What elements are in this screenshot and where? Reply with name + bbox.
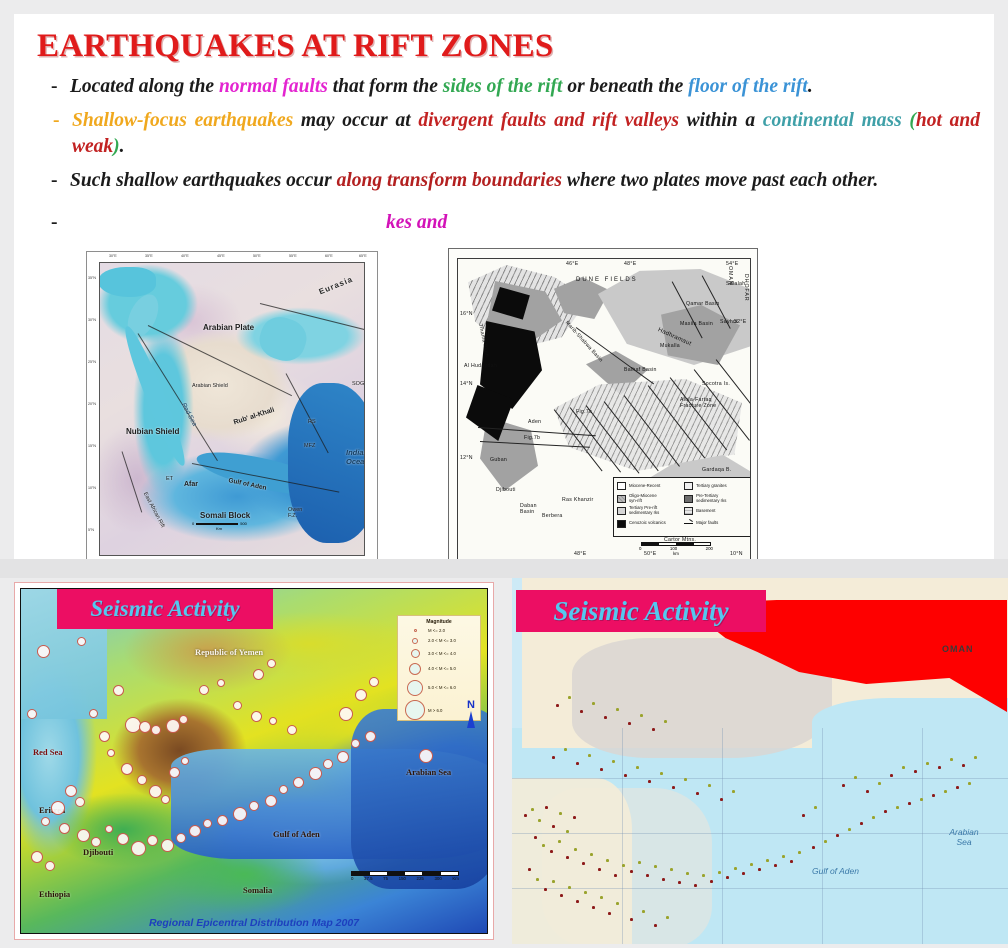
banner-text: Seismic Activity xyxy=(90,596,239,622)
map-a-lat-tick: 10°N xyxy=(88,486,96,490)
map-b-coord-tick: 16°N xyxy=(460,311,473,317)
bullet-text-3: Such shallow earthquakes occur along tra… xyxy=(70,170,878,191)
bullet-text-2: Shallow-focus earthquakes may occur at d… xyxy=(72,110,980,157)
scalebar-tick: 0 xyxy=(639,546,641,551)
map-a-label-arabian-shield: Arabian Shield xyxy=(192,383,228,389)
map-b-coord-tick: 48°E xyxy=(574,551,587,557)
map-label-republic-of-yemen: Republic of Yemen xyxy=(195,647,263,657)
map-label-ethiopia: Ethiopia xyxy=(39,889,70,899)
map-b-label-aden: Aden xyxy=(528,419,541,425)
map-b-label-oman: OMAN xyxy=(727,266,733,286)
slide-earthquakes-rift-zones: EARTHQUAKES AT RIFT ZONES - Located alon… xyxy=(14,14,994,559)
legend-swatch-tertiary-granites xyxy=(684,482,693,490)
scalebar-tick: 300 xyxy=(434,876,441,881)
bullet-marker-4: - xyxy=(51,210,58,236)
map-b-coord-tick: 48°E xyxy=(624,261,637,267)
map-a-lon-tick: 30°E xyxy=(109,254,117,258)
bullet-segment: Located along the xyxy=(70,76,219,97)
magnitude-label: M <= 2.0 xyxy=(428,628,445,633)
magnitude-symbol xyxy=(402,649,428,658)
banner-seismic-activity-left: Seismic Activity xyxy=(57,589,273,629)
magnitude-label: 5.0 < M <= 6.0 xyxy=(428,685,456,690)
map-a-lat-tick: 5°N xyxy=(88,528,94,532)
north-arrow-glyph xyxy=(467,711,475,728)
slide-page: EARTHQUAKES AT RIFT ZONES - Located alon… xyxy=(0,0,1008,948)
bullet-marker-2: - xyxy=(53,108,60,134)
map-a-label-arabian-plate: Arabian Plate xyxy=(203,323,254,332)
map-b-label-masila-basin: Masila Basin xyxy=(680,321,713,327)
panel-seismic-epicenters: Seismic Activity OMAN Arabian Sea Gulf o… xyxy=(512,578,1008,944)
map-label-djibouti: Djibouti xyxy=(83,847,113,857)
bullet-segment: normal faults xyxy=(219,76,328,97)
map-a-label-sog: SOG xyxy=(352,381,364,387)
map-a-lat-tick: 15°N xyxy=(88,444,96,448)
map-b-label-balhaf-basin: Balhaf Basin xyxy=(624,367,657,373)
legend-item: Cenozoic volcanics xyxy=(617,519,679,529)
bullet-segment: . xyxy=(120,136,125,157)
bullet-segment: or beneath the xyxy=(562,76,688,97)
legend-swatch-pre-tertiary-sed xyxy=(684,495,693,503)
magnitude-legend-row: M <= 2.0 xyxy=(402,626,476,635)
map-a-frame: Arabian Plate Nubian Shield Somali Block… xyxy=(99,262,365,556)
magnitude-label: 4.0 < M <= 5.0 xyxy=(428,666,456,671)
scalebar-tick: 75 xyxy=(383,876,388,881)
figure-yemen-geological-map: DUNE FIELDS Tihama Plain Hadhramaut Qama… xyxy=(448,248,758,559)
bullet-item-4: - kes and xyxy=(40,210,980,236)
political-basemap: Seismic Activity OMAN Arabian Sea Gulf o… xyxy=(512,578,1008,944)
map-b-coord-tick: 54°E xyxy=(726,261,739,267)
magnitude-symbol xyxy=(402,629,428,632)
map-a-label-somali-block: Somali Block xyxy=(200,511,250,520)
map-b-label-daban-basin: Daban Basin xyxy=(520,503,546,515)
magnitude-symbol xyxy=(402,680,428,696)
legend-label: Basement xyxy=(696,509,715,514)
map-b-legend: Miocene-Recent Oligo-Miocene syn-rift Te… xyxy=(613,477,751,537)
legend-label: Major faults xyxy=(696,521,718,526)
legend-swatch-miocene-recent xyxy=(617,482,626,490)
map-caption: Regional Epicentral Distribution Map 200… xyxy=(21,917,487,929)
bullet-segment: floor of the rift xyxy=(688,76,808,97)
map-label-red-sea: Red Sea xyxy=(33,747,63,757)
map-b-label-mukalla: Mukalla xyxy=(660,343,680,349)
scalebar-track xyxy=(351,871,459,876)
legend-swatch-basement xyxy=(684,507,693,515)
map-b-frame: DUNE FIELDS Tihama Plain Hadhramaut Qama… xyxy=(457,258,751,559)
map-scalebar: 0 37.5 75 150 225 300 Km xyxy=(351,871,459,882)
map-label-arabian-sea: Arabian Sea xyxy=(406,767,451,777)
legend-label: Oligo-Miocene syn-rift xyxy=(629,494,657,504)
map-a-label-eurasia: Eurasia xyxy=(318,275,355,297)
bullet-marker-3: - xyxy=(51,168,58,194)
magnitude-legend-row: M > 6.0 xyxy=(402,698,476,722)
magnitude-legend-row: 3.0 < M <= 4.0 xyxy=(402,646,476,660)
bullet-item-3: - Such shallow earthquakes occur along t… xyxy=(40,168,980,194)
bullet-text-4: kes and xyxy=(70,210,447,236)
legend-item: Basement xyxy=(684,506,750,516)
map-b-label-dune-fields: DUNE FIELDS xyxy=(576,277,638,283)
bullet-segment: kes and xyxy=(386,212,447,233)
figure-arabian-plate-tectonic-map: Arabian Plate Nubian Shield Somali Block… xyxy=(86,251,378,559)
map-a-lon-tick: 60°E xyxy=(325,254,333,258)
scalebar-tick: 37.5 xyxy=(364,876,373,881)
legend-label: Pre-Tertiary sedimentary rks xyxy=(696,494,726,504)
bullet-segment: Shallow-focus earthquakes xyxy=(72,110,293,131)
legend-item: Oligo-Miocene syn-rift xyxy=(617,494,679,504)
magnitude-label: 2.0 < M <= 3.0 xyxy=(428,638,456,643)
map-b-coord-tick: 46°E xyxy=(566,261,579,267)
scalebar-tick: 0 xyxy=(351,876,353,881)
legend-item: Major faults xyxy=(684,519,750,529)
legend-label: Miocene-Recent xyxy=(629,484,660,489)
magnitude-label: 3.0 < M <= 4.0 xyxy=(428,651,456,656)
magnitude-label: M > 6.0 xyxy=(428,708,442,713)
bullet-segment: where two plates move past each other. xyxy=(562,170,878,191)
map-a-lon-tick: 45°E xyxy=(217,254,225,258)
map-a-label-rub-al-khali: Rub' al-Khali xyxy=(233,407,276,428)
north-arrow: N xyxy=(467,701,475,728)
map-a-lon-tick: 40°E xyxy=(181,254,189,258)
bullet-marker-1: - xyxy=(51,74,58,100)
map-b-label-fig7b: Fig.7b xyxy=(524,435,540,441)
map-b-label-qamar-basin: Qamar Basin xyxy=(686,301,720,307)
bullet-segment: may occur at xyxy=(293,110,418,131)
map-b-label-dhofar: DHOFAR xyxy=(743,274,749,302)
bullet-segment: Such shallow earthquakes occur xyxy=(70,170,337,191)
bullet-segment: that form the xyxy=(328,76,443,97)
map-b-label-alula-fartaq: Alula-Fartaq Fracture Zone xyxy=(680,397,720,409)
magnitude-symbol xyxy=(402,638,428,644)
map-b-coord-tick: 10°N xyxy=(730,551,743,557)
map-b-coord-tick: 12°N xyxy=(460,455,473,461)
scalebar-unit: km xyxy=(641,551,711,556)
magnitude-legend-title: Magnitude xyxy=(402,619,476,625)
bullet-segment: ( xyxy=(902,110,916,131)
bullet-segment: within a xyxy=(679,110,763,131)
map-b-scalebar: 0 100 200 km xyxy=(641,542,713,556)
map-b-label-gardaqa: Gardaqa B. xyxy=(702,467,732,473)
map-label-arabian-sea: Arabian Sea xyxy=(942,828,986,848)
legend-item: Pre-Tertiary sedimentary rks xyxy=(684,494,750,504)
bullet-segment: . xyxy=(808,76,813,97)
panel-regional-epicentral-map: Seismic Activity Republic of Yemen Red S… xyxy=(14,582,494,940)
legend-label: Cenozoic volcanics xyxy=(629,521,666,526)
bullet-segment: divergent faults and rift valleys xyxy=(418,110,679,131)
bullet-segment: continental mass xyxy=(763,110,902,131)
map-a-lat-tick: 20°N xyxy=(88,402,96,406)
slide-divider xyxy=(0,559,1008,578)
map-a-lon-tick: 55°E xyxy=(289,254,297,258)
legend-swatch-major-faults xyxy=(684,520,693,528)
map-a-lon-tick: 35°E xyxy=(145,254,153,258)
legend-swatch-cenozoic-volcanics xyxy=(617,520,626,528)
map-b-label-djibouti: Djibouti xyxy=(496,487,516,493)
map-a-label-east-african-rift: East African Rift xyxy=(142,491,166,529)
north-label: N xyxy=(467,701,475,710)
legend-swatch-oligo-miocene xyxy=(617,495,626,503)
map-b-label-ras-khanzir: Ras Khanzir xyxy=(562,497,594,503)
map-label-gulf-of-aden: Gulf of Aden xyxy=(273,829,320,839)
map-a-label-et: ET xyxy=(166,476,173,482)
scalebar-tick: 225 xyxy=(417,876,424,881)
magnitude-legend-row: 2.0 < M <= 3.0 xyxy=(402,635,476,646)
map-a-lat-tick: 25°N xyxy=(88,360,96,364)
map-b-label-al-hudaydah: Al Hudaydah xyxy=(464,363,497,369)
map-label-gulf-of-aden: Gulf of Aden xyxy=(812,866,859,876)
legend-item: Tertiary granites xyxy=(684,481,750,491)
banner-seismic-activity-right: Seismic Activity xyxy=(516,590,766,632)
magnitude-legend-row: 4.0 < M <= 5.0 xyxy=(402,660,476,677)
scalebar-tick: 150 xyxy=(399,876,406,881)
bullet-item-1: - Located along the normal faults that f… xyxy=(40,74,980,100)
panel-left-map: Seismic Activity Republic of Yemen Red S… xyxy=(20,588,488,934)
scalebar-unit: Km xyxy=(452,876,459,881)
map-b-coord-tick: 14°N xyxy=(460,381,473,387)
map-label-oman: OMAN xyxy=(942,644,974,654)
map-a-lon-tick: 50°E xyxy=(253,254,261,258)
bullet-list: - Located along the normal faults that f… xyxy=(40,74,980,244)
banner-text: Seismic Activity xyxy=(553,596,728,627)
legend-item: Tertiary Pre-rift sedimentary rks xyxy=(617,506,679,516)
bullet-segment: sides of the rift xyxy=(443,76,563,97)
map-a-label-afar: Afar xyxy=(184,481,198,489)
bullet-segment: along transform boundaries xyxy=(337,170,562,191)
legend-swatch-tertiary-prerift xyxy=(617,507,626,515)
magnitude-symbol xyxy=(402,663,428,675)
map-b-label-guban: Guban xyxy=(490,457,507,463)
legend-item: Miocene-Recent xyxy=(617,481,679,491)
slide-seismic-activity: Seismic Activity Republic of Yemen Red S… xyxy=(0,578,1008,948)
bullet-text-1: Located along the normal faults that for… xyxy=(70,76,813,97)
map-a-lat-tick: 35°N xyxy=(88,276,96,280)
magnitude-symbol xyxy=(402,700,428,720)
map-label-somalia: Somalia xyxy=(243,885,272,895)
map-a-lon-tick: 65°E xyxy=(359,254,367,258)
legend-label: Tertiary Pre-rift sedimentary rks xyxy=(629,506,659,516)
map-b-label-socotra: Socotra Is. xyxy=(702,381,730,387)
bullet-item-2: - Shallow-focus earthquakes may occur at… xyxy=(40,108,980,160)
map-b-coord-tick: 52°E xyxy=(734,319,747,325)
magnitude-legend-row: 5.0 < M <= 6.0 xyxy=(402,677,476,698)
map-a-lat-tick: 30°N xyxy=(88,318,96,322)
legend-label: Tertiary granites xyxy=(696,484,727,489)
page-title: EARTHQUAKES AT RIFT ZONES xyxy=(37,28,553,65)
scalebar-tick: 200 xyxy=(706,546,713,551)
map-b-label-fig7a: Fig.7a xyxy=(576,409,592,415)
